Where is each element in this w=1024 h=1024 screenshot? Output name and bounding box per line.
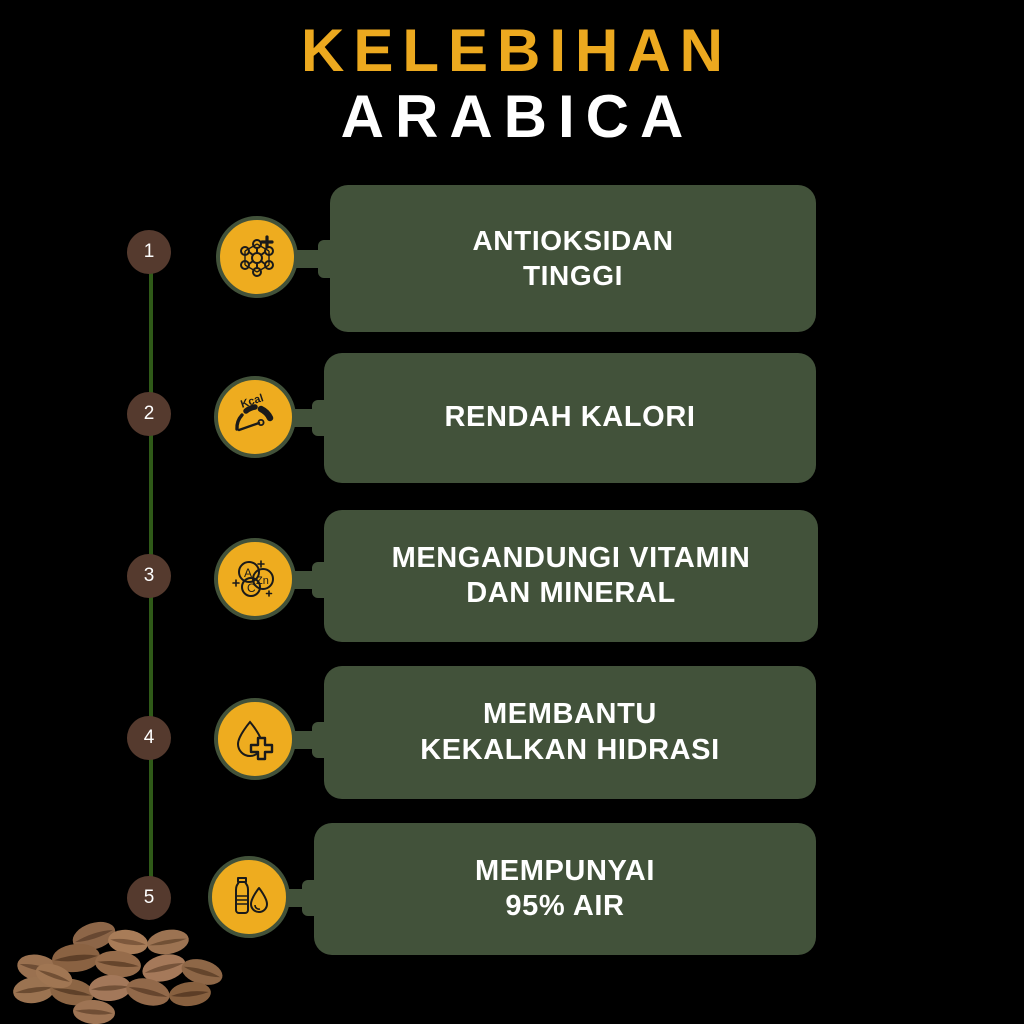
benefit-badge-2[interactable]: Kcal — [214, 376, 300, 462]
benefit-card-3-text: MENGANDUNGI VITAMIN DAN MINERAL — [392, 541, 751, 612]
benefit-card-2-text: RENDAH KALORI — [444, 400, 695, 435]
coffee-beans-decoration — [6, 906, 226, 1024]
benefit-card-3[interactable]: MENGANDUNGI VITAMIN DAN MINERAL — [324, 510, 818, 642]
title-line-primary: KELEBIHAN — [0, 18, 1024, 84]
benefit-card-1-line1: ANTIOKSIDAN — [472, 224, 673, 258]
benefit-card-1[interactable]: ANTIOKSIDAN TINGGI — [330, 185, 816, 332]
vitamin-label-zn: Zn — [256, 575, 269, 587]
title-line-secondary: ARABICA — [0, 84, 1024, 150]
benefit-card-3-line1: MENGANDUNGI VITAMIN — [392, 541, 751, 576]
benefit-card-4[interactable]: MEMBANTU KEKALKAN HIDRASI — [324, 666, 816, 799]
step-number-4: 4 — [127, 716, 171, 760]
infographic-canvas: KELEBIHAN ARABICA 1 ANTIOKSIDAN TINGGI — [0, 0, 1024, 1024]
benefit-card-5-line2: 95% AIR — [475, 889, 655, 924]
water-drop-cross-icon — [214, 698, 296, 780]
step-number-3: 3 — [127, 554, 171, 598]
page-title: KELEBIHAN ARABICA — [0, 18, 1024, 150]
benefit-badge-1[interactable] — [216, 216, 302, 302]
vitamin-label-a: A — [244, 566, 252, 580]
kcal-gauge-icon: Kcal — [214, 376, 296, 458]
step-number-2: 2 — [127, 392, 171, 436]
benefit-card-3-line2: DAN MINERAL — [392, 576, 751, 611]
benefit-badge-4[interactable] — [214, 698, 300, 784]
molecule-plus-icon — [216, 216, 298, 298]
vitamins-minerals-icon: A Zn C — [214, 538, 296, 620]
benefit-card-1-text: ANTIOKSIDAN TINGGI — [472, 224, 673, 292]
benefit-card-5[interactable]: MEMPUNYAI 95% AIR — [314, 823, 816, 955]
vitamin-label-c: C — [247, 581, 256, 595]
benefit-badge-3[interactable]: A Zn C — [214, 538, 300, 624]
benefit-card-2-line1: RENDAH KALORI — [444, 400, 695, 435]
benefit-card-1-line2: TINGGI — [472, 259, 673, 293]
benefit-card-5-text: MEMPUNYAI 95% AIR — [475, 854, 655, 925]
benefit-card-5-line1: MEMPUNYAI — [475, 854, 655, 889]
benefit-card-4-line2: KEKALKAN HIDRASI — [420, 733, 720, 768]
benefit-card-4-line1: MEMBANTU — [420, 697, 720, 732]
step-number-1: 1 — [127, 230, 171, 274]
benefit-card-4-text: MEMBANTU KEKALKAN HIDRASI — [420, 697, 720, 768]
benefit-card-2[interactable]: RENDAH KALORI — [324, 353, 816, 483]
